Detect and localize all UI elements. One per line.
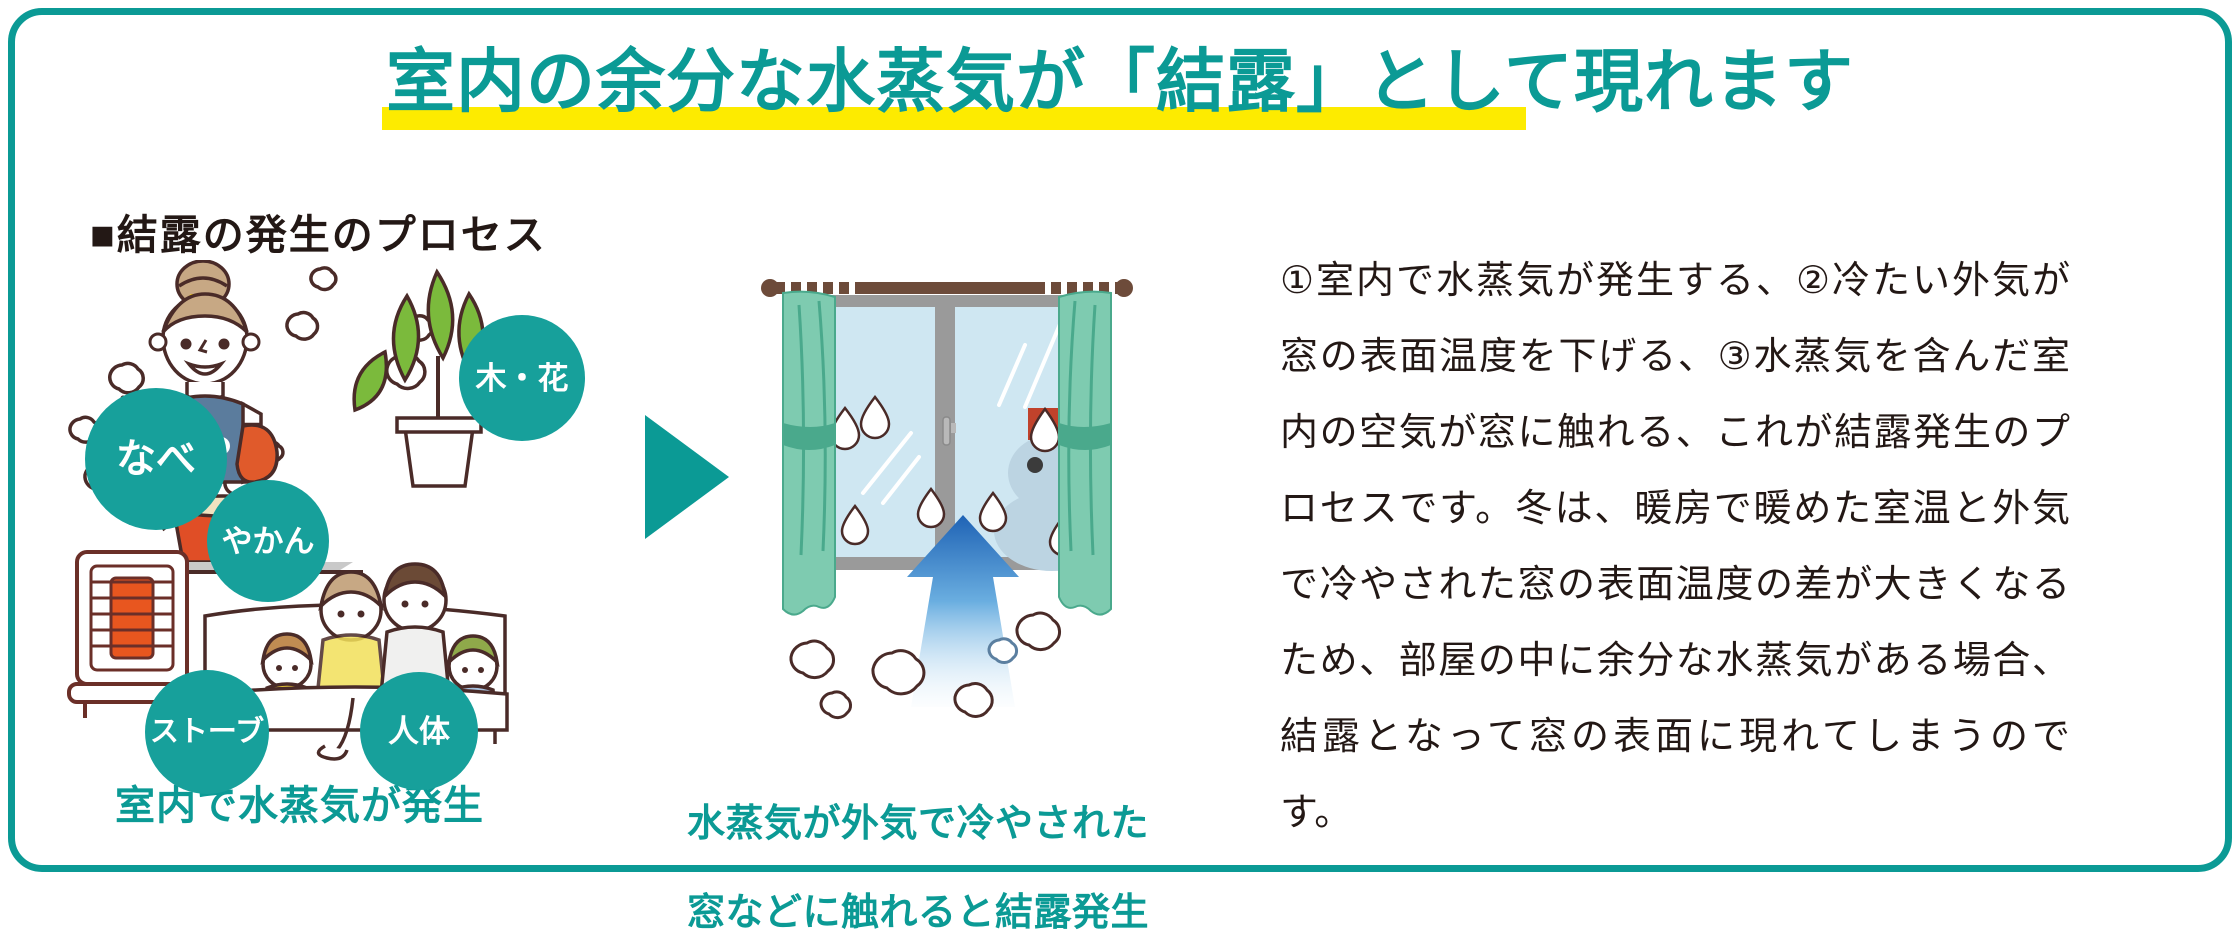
badge-stove-label: ストーブ: [150, 718, 264, 747]
badge-nabe-label: なべ: [116, 439, 196, 479]
badge-yakan-label: やかん: [222, 526, 315, 557]
indoor-vapor-illustration: なべ やかん 木・花 ストーブ 人体: [55, 260, 695, 780]
title-container: 室内の余分な水蒸気が「結露」として現れます: [386, 43, 1854, 120]
process-arrow-icon: [645, 415, 729, 539]
explanation-column: ①室内で水蒸気が発生する、②冷たい外気が窓の表面温度を下げる、③水蒸気を含んだ室…: [1280, 243, 2070, 851]
window-scene-svg: [715, 265, 1175, 725]
badge-jintai-label: 人体: [388, 716, 450, 747]
middle-caption-line2: 窓などに触れると結露発生: [687, 892, 1149, 934]
badge-jintai: 人体: [360, 672, 478, 790]
badge-kihana-label: 木・花: [476, 363, 569, 394]
badge-stove: ストーブ: [145, 670, 269, 794]
page-title: 室内の余分な水蒸気が「結露」として現れます: [15, 43, 2225, 120]
badge-kihana: 木・花: [459, 315, 585, 441]
explanation-paragraph: ①室内で水蒸気が発生する、②冷たい外気が窓の表面温度を下げる、③水蒸気を含んだ室…: [1280, 243, 2070, 851]
badge-nabe: なべ: [85, 388, 227, 530]
section-subheading: ■結露の発生のプロセス: [90, 201, 547, 261]
middle-panel-caption: 水蒸気が外気で冷やされた 窓などに触れると結露発生: [687, 757, 1149, 936]
left-panel-caption: 室内で水蒸気が発生: [115, 783, 484, 830]
title-text: 室内の余分な水蒸気が「結露」として現れます: [386, 43, 1854, 120]
window-condensation-illustration: [715, 265, 1175, 725]
middle-caption-line1: 水蒸気が外気で冷やされた: [687, 803, 1149, 845]
info-card: 室内の余分な水蒸気が「結露」として現れます ■結露の発生のプロセス: [8, 8, 2232, 872]
badge-yakan: やかん: [207, 480, 329, 602]
